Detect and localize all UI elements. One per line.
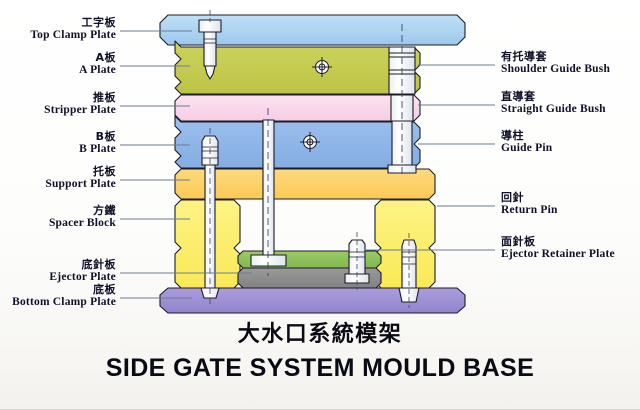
- label-stripper-plate: 推板 Stripper Plate: [44, 92, 116, 117]
- label-spacer-block: 方鐵 Spacer Block: [49, 205, 116, 230]
- label-shoulder-guide-bush: 有托導套 Shoulder Guide Bush: [501, 51, 610, 76]
- label-stripper-plate-cn: 推板: [44, 92, 116, 104]
- label-a-plate-cn: A板: [79, 52, 116, 64]
- label-a-plate-en: A Plate: [79, 64, 116, 77]
- label-spacer-block-cn: 方鐵: [49, 205, 116, 217]
- label-top-clamp-plate: 工字板 Top Clamp Plate: [30, 17, 116, 42]
- return-pin-right: [345, 232, 369, 290]
- label-b-plate: B板 B Plate: [79, 131, 116, 156]
- label-ejector-retainer-plate-en: Ejector Retainer Plate: [501, 248, 615, 261]
- label-guide-pin: 導柱 Guide Pin: [501, 130, 552, 155]
- page-title-cn: 大水口系統模架: [0, 316, 640, 348]
- label-a-plate: A板 A Plate: [79, 52, 116, 77]
- label-guide-pin-en: Guide Pin: [501, 142, 552, 155]
- label-b-plate-cn: B板: [79, 131, 116, 143]
- title-block: 大水口系統模架 SIDE GATE SYSTEM MOULD BASE: [0, 316, 640, 383]
- label-shoulder-guide-bush-en: Shoulder Guide Bush: [501, 63, 610, 76]
- label-ejector-plate: 底針板 Ejector Plate: [49, 259, 116, 284]
- label-ejector-retainer-plate-cn: 面針板: [501, 236, 615, 248]
- label-b-plate-en: B Plate: [79, 143, 116, 156]
- label-support-plate: 托板 Support Plate: [45, 166, 116, 191]
- label-return-pin-en: Return Pin: [501, 204, 558, 217]
- label-bottom-clamp-plate-en: Bottom Clamp Plate: [12, 296, 116, 309]
- label-ejector-plate-cn: 底針板: [49, 259, 116, 271]
- label-straight-guide-bush-en: Straight Guide Bush: [501, 103, 606, 116]
- label-bottom-clamp-plate: 底板 Bottom Clamp Plate: [12, 284, 116, 309]
- label-bottom-clamp-plate-cn: 底板: [12, 284, 116, 296]
- label-return-pin: 回針 Return Pin: [501, 192, 558, 217]
- plate-stripper-plate: [175, 95, 420, 121]
- label-support-plate-cn: 托板: [45, 166, 116, 178]
- label-ejector-retainer-plate: 面針板 Ejector Retainer Plate: [501, 236, 615, 261]
- label-stripper-plate-en: Stripper Plate: [44, 104, 116, 117]
- label-top-clamp-plate-en: Top Clamp Plate: [30, 29, 116, 42]
- label-spacer-block-en: Spacer Block: [49, 217, 116, 230]
- label-top-clamp-plate-cn: 工字板: [30, 17, 116, 29]
- label-straight-guide-bush-cn: 直導套: [501, 91, 606, 103]
- label-straight-guide-bush: 直導套 Straight Guide Bush: [501, 91, 606, 116]
- label-shoulder-guide-bush-cn: 有托導套: [501, 51, 610, 63]
- page-title-en: SIDE GATE SYSTEM MOULD BASE: [0, 354, 640, 383]
- label-guide-pin-cn: 導柱: [501, 130, 552, 142]
- label-support-plate-en: Support Plate: [45, 178, 116, 191]
- mould-base-diagram-page: 工字板 Top Clamp Plate A板 A Plate 推板 Stripp…: [0, 0, 640, 410]
- label-return-pin-cn: 回針: [501, 192, 558, 204]
